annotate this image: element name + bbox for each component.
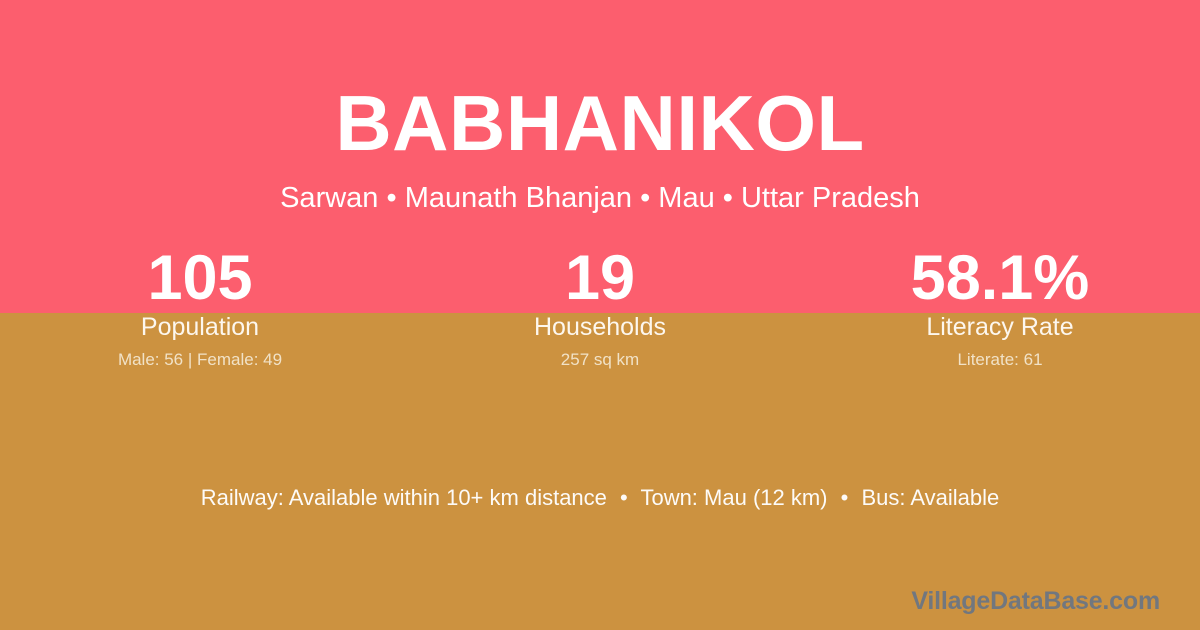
stat-population-value: 105 — [0, 246, 400, 310]
transport-bus: Bus: Available — [861, 485, 999, 510]
village-location-breadcrumb: Sarwan • Maunath Bhanjan • Mau • Uttar P… — [0, 183, 1200, 215]
transport-town: Town: Mau (12 km) — [640, 485, 827, 510]
stat-population: 105 Population Male: 56 | Female: 49 — [0, 246, 400, 369]
stat-households-area: 257 sq km — [400, 351, 800, 370]
village-name-title: BABHANIKOL — [0, 84, 1200, 162]
stat-literacy: 58.1% Literacy Rate Literate: 61 — [800, 246, 1200, 369]
transport-info-line: Railway: Available within 10+ km distanc… — [0, 485, 1200, 510]
site-watermark-logo: VillageDataBase.com — [911, 588, 1160, 616]
stat-households-label: Households — [400, 314, 800, 342]
stat-literacy-label: Literacy Rate — [800, 314, 1200, 342]
stat-population-label: Population — [0, 314, 400, 342]
stat-households-value: 19 — [400, 246, 800, 310]
transport-separator-2: • — [834, 485, 856, 510]
stat-households: 19 Households 257 sq km — [400, 246, 800, 369]
stat-literacy-count: Literate: 61 — [800, 351, 1200, 370]
transport-railway: Railway: Available within 10+ km distanc… — [201, 485, 607, 510]
stat-literacy-value: 58.1% — [800, 246, 1200, 310]
statistics-row: 105 Population Male: 56 | Female: 49 19 … — [0, 246, 1200, 369]
card-content: BABHANIKOL Sarwan • Maunath Bhanjan • Ma… — [0, 0, 1200, 630]
transport-separator-1: • — [613, 485, 635, 510]
stat-population-breakdown: Male: 56 | Female: 49 — [0, 351, 400, 370]
village-info-card: BABHANIKOL Sarwan • Maunath Bhanjan • Ma… — [0, 0, 1200, 630]
